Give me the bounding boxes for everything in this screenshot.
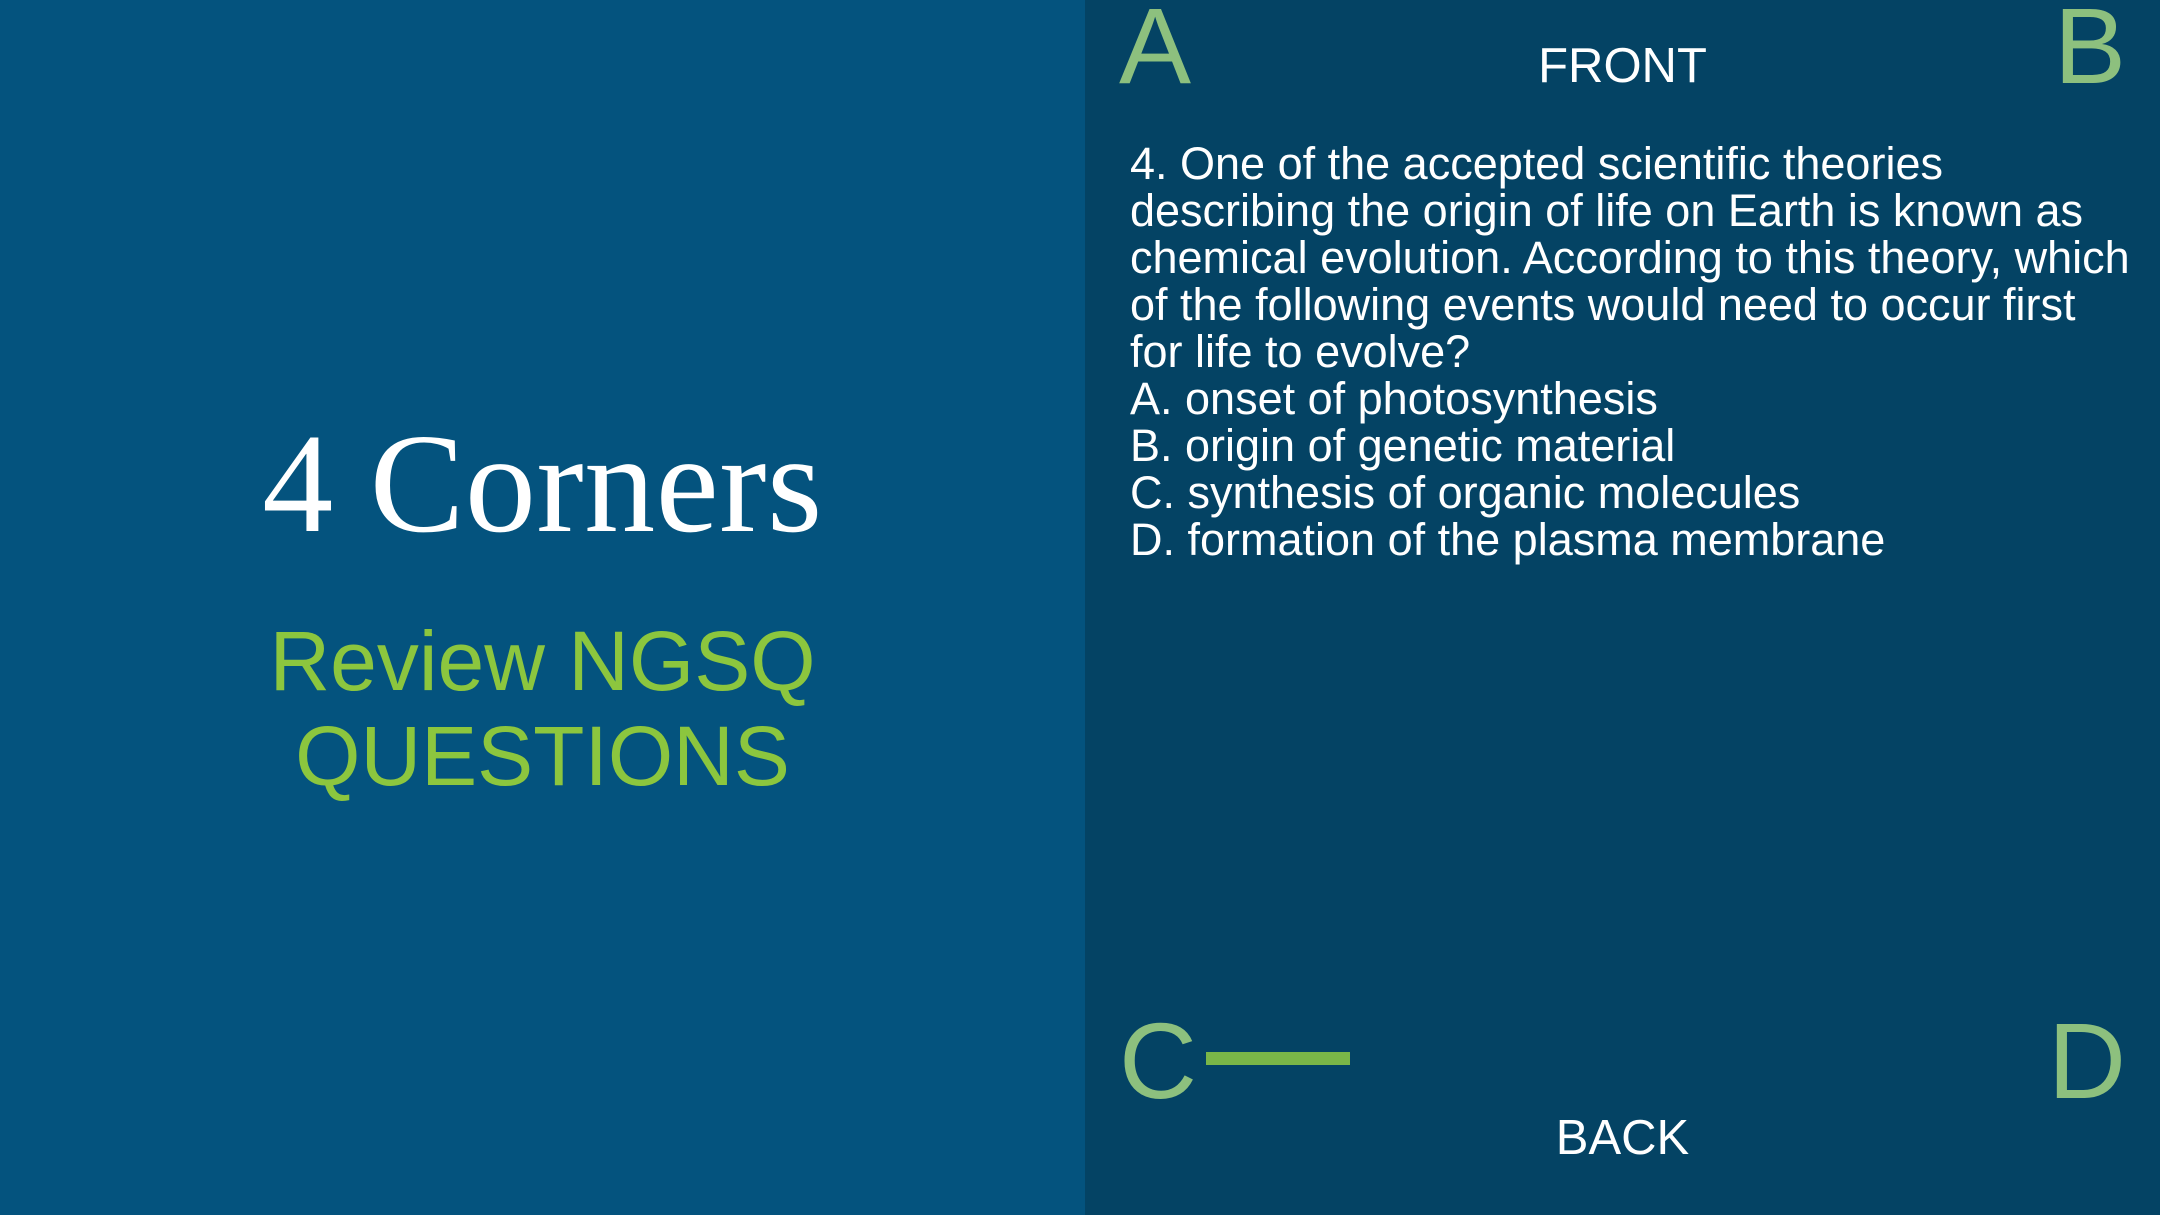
- answer-choice[interactable]: C. synthesis of organic molecules: [1130, 469, 2130, 516]
- slide-canvas: 4 Corners Review NGSQ QUESTIONS A B C D …: [0, 0, 2160, 1215]
- question-block: 4. One of the accepted scientific theori…: [1130, 140, 2130, 563]
- answer-annotation-line: [1206, 1052, 1350, 1065]
- deck-subtitle: Review NGSQ QUESTIONS: [153, 614, 933, 802]
- answer-choice[interactable]: B. origin of genetic material: [1130, 422, 2130, 469]
- title-panel: 4 Corners Review NGSQ QUESTIONS: [0, 0, 1085, 1215]
- corner-label-d[interactable]: D: [2048, 1007, 2126, 1115]
- answer-choice[interactable]: A. onset of photosynthesis: [1130, 375, 2130, 422]
- card-face-front-label: FRONT: [1085, 42, 2160, 91]
- question-card-panel: A B C D FRONT BACK 4. One of the accepte…: [1085, 0, 2160, 1215]
- corner-label-c[interactable]: C: [1119, 1007, 1197, 1115]
- question-stem: 4. One of the accepted scientific theori…: [1130, 140, 2130, 375]
- card-face-back-label: BACK: [1085, 1114, 2160, 1163]
- answer-choice-list: A. onset of photosynthesis B. origin of …: [1130, 375, 2130, 563]
- answer-choice[interactable]: D. formation of the plasma membrane: [1130, 516, 2130, 563]
- deck-title: 4 Corners: [262, 412, 823, 554]
